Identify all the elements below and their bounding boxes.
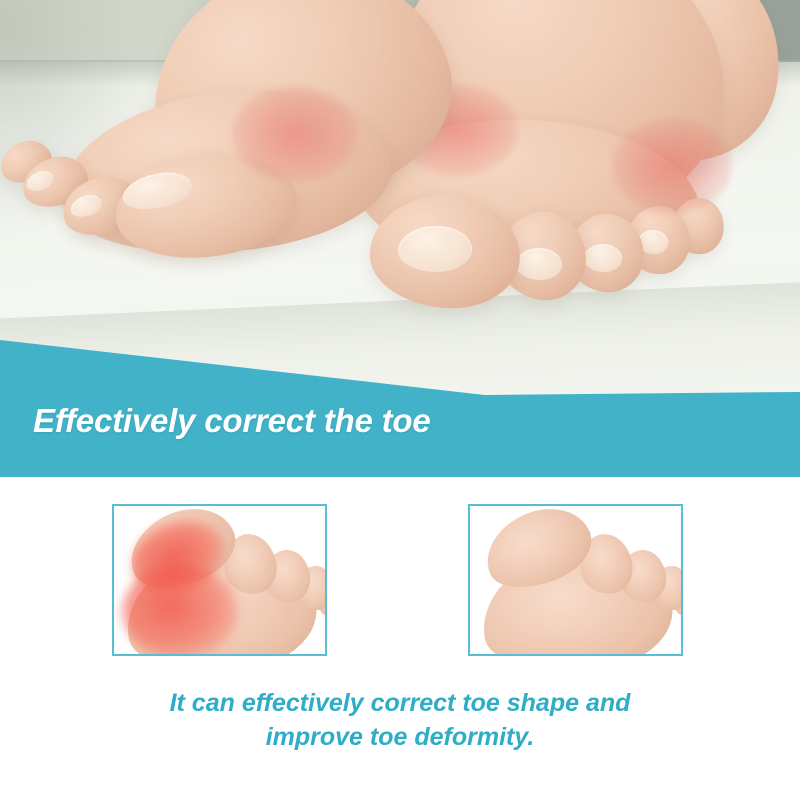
bunion-feet-photo [0,0,800,400]
right-foot-heel-redness [612,118,732,214]
headline-text: Effectively correct the toe [33,402,430,440]
caption-line-2: improve toe deformity. [0,720,800,754]
caption-block: It can effectively correct toe shape and… [0,686,800,754]
product-marketing-image: Effectively correct the toe [0,0,800,800]
right-foot-toenail-3 [584,244,622,272]
right-foot-toenail-2 [516,248,562,280]
caption-line-1: It can effectively correct toe shape and [0,686,800,720]
after-panel [468,504,683,656]
left-foot-bunion-redness [232,86,358,182]
before-panel [112,504,327,656]
